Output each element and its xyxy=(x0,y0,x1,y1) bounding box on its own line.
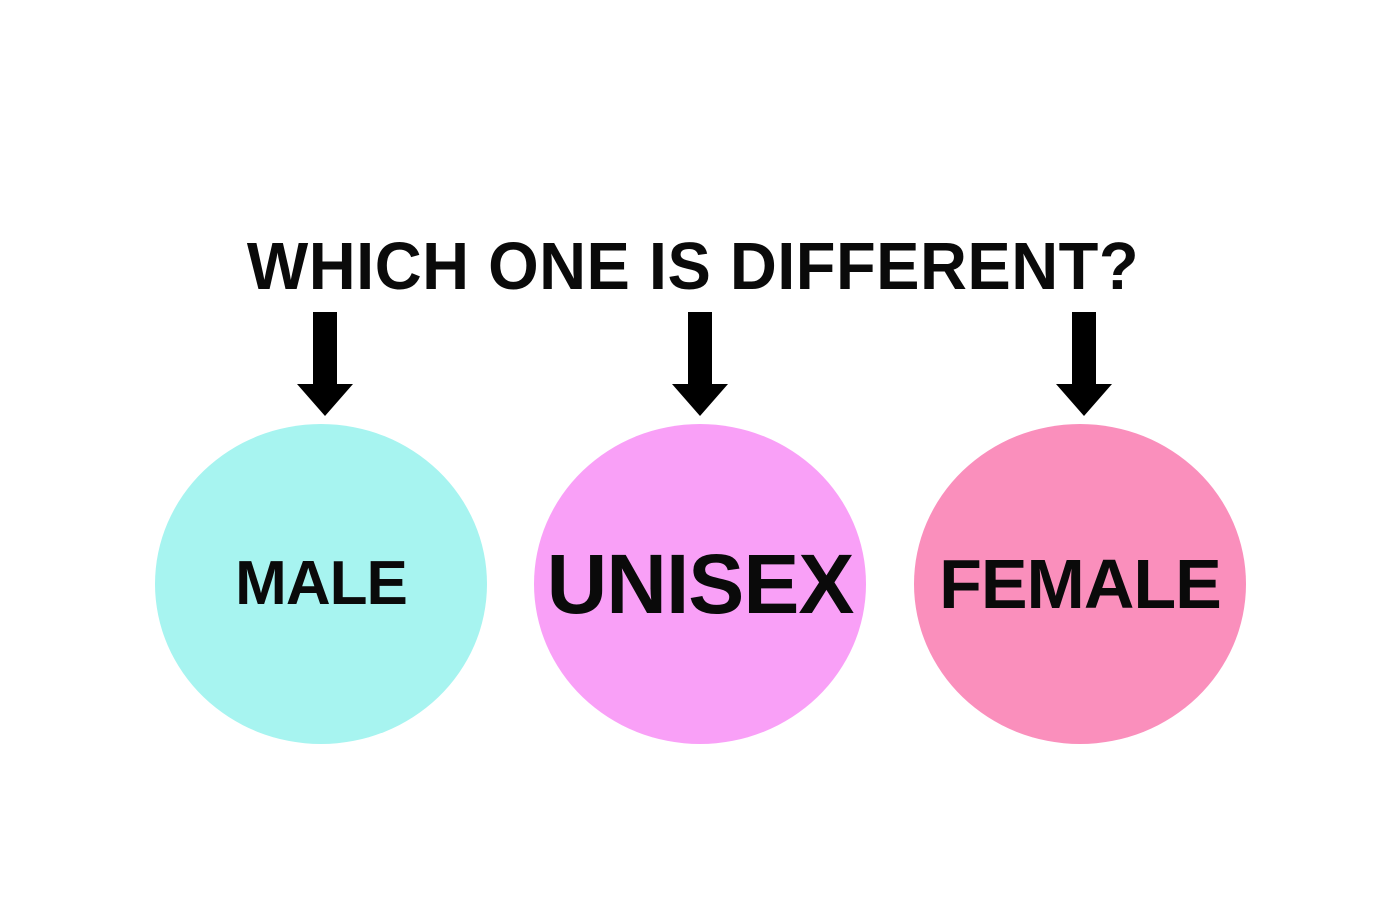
choice-circle-female[interactable]: FEMALE xyxy=(914,424,1246,744)
meme-canvas: WHICH ONE IS DIFFERENT? MALE UNISEX FEMA… xyxy=(0,0,1386,924)
arrow-down-unisex-icon xyxy=(672,312,728,416)
choice-label-female: FEMALE xyxy=(939,549,1221,619)
arrow-down-male-icon xyxy=(297,312,353,416)
choice-label-male: MALE xyxy=(235,553,407,615)
choice-label-unisex: UNISEX xyxy=(547,542,854,626)
arrow-down-female-icon xyxy=(1056,312,1112,416)
choice-circle-male[interactable]: MALE xyxy=(155,424,487,744)
page-title: WHICH ONE IS DIFFERENT? xyxy=(21,232,1365,302)
choice-circle-unisex[interactable]: UNISEX xyxy=(534,424,866,744)
